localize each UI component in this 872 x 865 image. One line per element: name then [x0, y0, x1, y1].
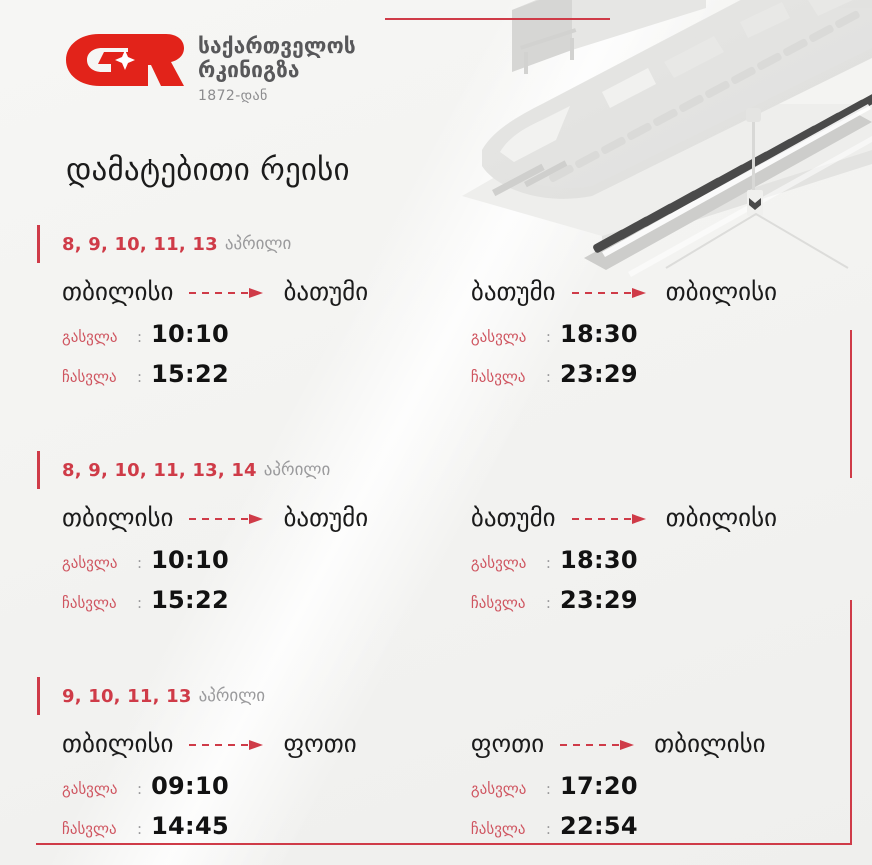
leg-route: ბათუმი თბილისი	[471, 500, 872, 534]
leg-arrival: ჩასვლა : 23:29	[471, 586, 872, 614]
bottom-accent-rule	[36, 843, 852, 845]
leg-destination: ფოთი	[283, 729, 356, 758]
leg-origin: ბათუმი	[471, 503, 556, 532]
gr-logo-icon	[66, 34, 184, 86]
dashed-arrow-icon	[572, 512, 650, 526]
label-separator: :	[546, 780, 551, 798]
leg-origin: თბილისი	[62, 277, 173, 306]
label-separator: :	[137, 368, 142, 386]
leg-route: თბილისი ბათუმი	[62, 500, 471, 534]
arrival-label: ჩასვლა	[62, 820, 136, 838]
departure-label: გასვლა	[471, 780, 545, 798]
departure-label: გასვლა	[62, 780, 136, 798]
leg-arrival: ჩასვლა : 22:54	[471, 812, 872, 840]
schedule-date-row: 8, 9, 10, 11, 13, 14 აპრილი	[36, 454, 872, 486]
dashed-arrow-icon	[560, 738, 638, 752]
date-accent-bar	[37, 225, 40, 263]
departure-label: გასვლა	[62, 554, 136, 572]
date-accent-bar	[37, 451, 40, 489]
label-separator: :	[546, 594, 551, 612]
departure-label: გასვლა	[471, 554, 545, 572]
schedule-leg: ბათუმი თბილისი გასვლა : 18:30 ჩასვლა	[471, 274, 872, 388]
train-bogies	[492, 160, 567, 196]
leg-arrival: ჩასვლა : 23:29	[471, 360, 872, 388]
arrival-label: ჩასვლა	[471, 594, 545, 612]
date-month: აპრილი	[199, 686, 266, 706]
departure-time: 18:30	[560, 546, 638, 574]
departure-time: 10:10	[151, 320, 229, 348]
leg-departure: გასვლა : 09:10	[62, 772, 471, 800]
leg-departure: გასვლა : 10:10	[62, 320, 471, 348]
schedule-date-row: 8, 9, 10, 11, 13 აპრილი	[36, 228, 872, 260]
schedule-date-row: 9, 10, 11, 13 აპრილი	[36, 680, 872, 712]
schedule-leg: თბილისი ფოთი გასვლა : 09:10 ჩასვლა	[62, 726, 471, 840]
arrival-label: ჩასვლა	[62, 594, 136, 612]
label-separator: :	[137, 328, 142, 346]
schedule-block: 8, 9, 10, 11, 13, 14 აპრილი თბილისი ბათუ…	[0, 454, 872, 614]
brand-lockup: საქართველოს რკინიგზა 1872-დან	[66, 34, 356, 104]
leg-route: თბილისი ფოთი	[62, 726, 471, 760]
date-month: აპრილი	[264, 460, 331, 480]
departure-time: 17:20	[560, 772, 638, 800]
arrival-label: ჩასვლა	[471, 820, 545, 838]
train-track-near	[548, 10, 861, 183]
dashed-arrow-icon	[189, 512, 267, 526]
dashed-arrow-icon	[572, 286, 650, 300]
arrival-time: 15:22	[151, 586, 229, 614]
schedule-leg: თბილისი ბათუმი გასვლა : 10:10 ჩასვლა	[62, 274, 471, 388]
schedule-list: 8, 9, 10, 11, 13 აპრილი თბილისი ბათუმი გ…	[0, 228, 872, 840]
dashed-arrow-icon	[189, 738, 267, 752]
leg-arrival: ჩასვლა : 15:22	[62, 586, 471, 614]
leg-container: თბილისი ფოთი გასვლა : 09:10 ჩასვლა	[36, 726, 872, 840]
departure-label: გასვლა	[62, 328, 136, 346]
leg-arrival: ჩასვლა : 14:45	[62, 812, 471, 840]
arrival-time: 23:29	[560, 360, 638, 388]
leg-container: თბილისი ბათუმი გასვლა : 10:10 ჩასვლა	[36, 500, 872, 614]
date-month: აპრილი	[225, 234, 292, 254]
leg-destination: ბათუმი	[283, 503, 368, 532]
leg-departure: გასვლა : 18:30	[471, 320, 872, 348]
leg-origin: ბათუმი	[471, 277, 556, 306]
schedule-block: 8, 9, 10, 11, 13 აპრილი თბილისი ბათუმი გ…	[0, 228, 872, 388]
label-separator: :	[546, 328, 551, 346]
schedule-leg: ფოთი თბილისი გასვლა : 17:20 ჩასვლა	[471, 726, 872, 840]
leg-route: ფოთი თბილისი	[471, 726, 872, 760]
schedule-block: 9, 10, 11, 13 აპრილი თბილისი ფოთი გასვლა	[0, 680, 872, 840]
leg-route: თბილისი ბათუმი	[62, 274, 471, 308]
leg-destination: ბათუმი	[283, 277, 368, 306]
label-separator: :	[546, 820, 551, 838]
leg-container: თბილისი ბათუმი გასვლა : 10:10 ჩასვლა	[36, 274, 872, 388]
leg-origin: ფოთი	[471, 729, 544, 758]
departure-time: 18:30	[560, 320, 638, 348]
arrival-time: 23:29	[560, 586, 638, 614]
top-accent-rule	[385, 18, 610, 20]
arrival-label: ჩასვლა	[62, 368, 136, 386]
arrival-time: 22:54	[560, 812, 638, 840]
leg-destination: თბილისი	[666, 277, 777, 306]
label-separator: :	[137, 594, 142, 612]
leg-route: ბათუმი თბილისი	[471, 274, 872, 308]
train-body	[482, 0, 872, 199]
date-days: 8, 9, 10, 11, 13, 14	[62, 460, 257, 481]
page-title: დამატებითი რეისი	[66, 152, 350, 188]
departure-time: 10:10	[151, 546, 229, 574]
label-separator: :	[137, 780, 142, 798]
leg-arrival: ჩასვლა : 15:22	[62, 360, 471, 388]
label-separator: :	[137, 820, 142, 838]
date-accent-bar	[37, 677, 40, 715]
brand-name-line-1: საქართველოს	[198, 35, 356, 59]
label-separator: :	[546, 554, 551, 572]
dashed-arrow-icon	[189, 286, 267, 300]
brand-name-line-2: რკინიგზა	[198, 59, 356, 83]
date-days: 9, 10, 11, 13	[62, 686, 192, 707]
arrival-label: ჩასვლა	[471, 368, 545, 386]
date-days: 8, 9, 10, 11, 13	[62, 234, 218, 255]
departure-label: გასვლა	[471, 328, 545, 346]
arrival-time: 15:22	[151, 360, 229, 388]
leg-departure: გასვლა : 10:10	[62, 546, 471, 574]
leg-destination: თბილისი	[666, 503, 777, 532]
brand-since-label: 1872-დან	[198, 88, 356, 104]
leg-departure: გასვლა : 17:20	[471, 772, 872, 800]
label-separator: :	[546, 368, 551, 386]
label-separator: :	[137, 554, 142, 572]
leg-origin: თბილისი	[62, 729, 173, 758]
brand-text: საქართველოს რკინიგზა 1872-დან	[198, 34, 356, 104]
schedule-leg: ბათუმი თბილისი გასვლა : 18:30 ჩასვლა	[471, 500, 872, 614]
leg-departure: გასვლა : 18:30	[471, 546, 872, 574]
departure-time: 09:10	[151, 772, 229, 800]
arrival-time: 14:45	[151, 812, 229, 840]
leg-origin: თბილისი	[62, 503, 173, 532]
station-shelter	[512, 0, 706, 74]
leg-destination: თბილისი	[654, 729, 765, 758]
schedule-leg: თბილისი ბათუმი გასვლა : 10:10 ჩასვლა	[62, 500, 471, 614]
